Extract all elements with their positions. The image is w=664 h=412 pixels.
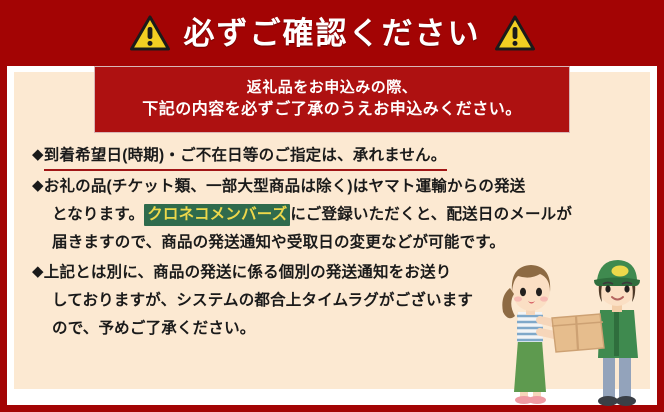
- notice-text-pre: となります。: [52, 206, 144, 223]
- notice-text: しておりますが、システムの都合上タイムラグがございます: [52, 292, 473, 309]
- notice-text: 上記とは別に、商品の発送に係る個別の発送通知をお送り: [44, 264, 452, 281]
- notice-line: ◆お礼の品(チケット類、一部大型商品は除く)はヤマト運輸からの発送: [32, 173, 632, 201]
- notice-line: ◆到着希望日(時期)・ご不在日等のご指定は、承れません。: [32, 142, 632, 171]
- notice-line: となります。クロネコメンバーズにご登録いただくと、配送日のメールが: [32, 201, 632, 229]
- notice-line: しておりますが、システムの都合上タイムラグがございます: [32, 287, 632, 315]
- notice-card: 必ずご確認ください 返礼品をお申込みの際、 下記の内容を必ずご了承のうえお申込み…: [0, 0, 664, 412]
- notice-text-post: にご登録いただくと、配送日のメールが: [290, 206, 572, 223]
- banner-line-2: 下記の内容を必ずご了承のうえお申込みください。: [142, 100, 522, 120]
- notice-item: ◆到着希望日(時期)・ご不在日等のご指定は、承れません。: [32, 142, 632, 171]
- banner-line-1: 返礼品をお申込みの際、: [247, 79, 418, 98]
- header-band: 必ずご確認ください: [0, 0, 664, 66]
- notice-list: ◆到着希望日(時期)・ご不在日等のご指定は、承れません。 ◆お礼の品(チケット類…: [32, 142, 632, 345]
- notice-text: お礼の品(チケット類、一部大型商品は除く)はヤマト運輸からの発送: [44, 178, 526, 195]
- warning-triangle-icon: [495, 15, 535, 51]
- notice-item: ◆上記とは別に、商品の発送に係る個別の発送通知をお送り しておりますが、システム…: [32, 259, 632, 343]
- warning-triangle-icon: [130, 15, 170, 51]
- notice-text: ので、予めご了承ください。: [52, 320, 255, 337]
- instruction-banner: 返礼品をお申込みの際、 下記の内容を必ずご了承のうえお申込みください。: [94, 66, 570, 133]
- kuroneko-members-highlight[interactable]: クロネコメンバーズ: [144, 204, 290, 226]
- notice-text: 届きますので、商品の発送通知や受取日の変更などが可能です。: [52, 234, 505, 251]
- notice-line: 届きますので、商品の発送通知や受取日の変更などが可能です。: [32, 229, 632, 257]
- bullet-marker: ◆: [32, 258, 44, 286]
- notice-item: ◆お礼の品(チケット類、一部大型商品は除く)はヤマト運輸からの発送 となります。…: [32, 173, 632, 257]
- page-title: 必ずご確認ください: [184, 18, 481, 49]
- bullet-marker: ◆: [32, 141, 44, 169]
- notice-text: 到着希望日(時期)・ご不在日等のご指定は、承れません。: [44, 144, 447, 171]
- bullet-marker: ◆: [32, 172, 44, 200]
- notice-line: ◆上記とは別に、商品の発送に係る個別の発送通知をお送り: [32, 259, 632, 287]
- notice-line: ので、予めご了承ください。: [32, 315, 632, 343]
